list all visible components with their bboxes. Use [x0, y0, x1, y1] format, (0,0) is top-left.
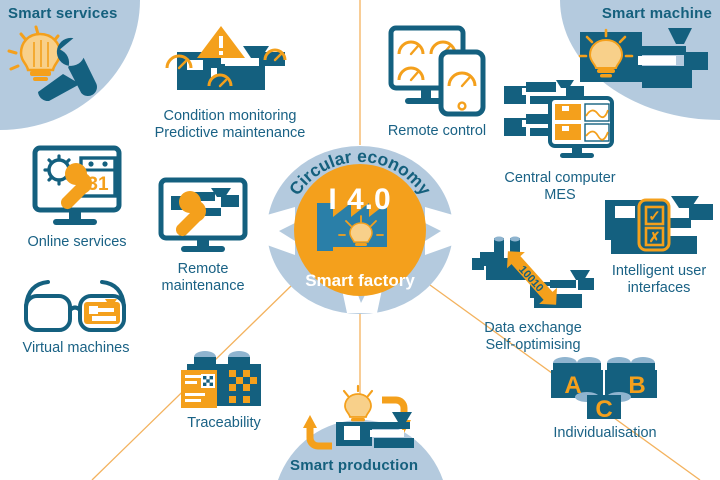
- node-label: Condition monitoring: [140, 108, 320, 125]
- node-label: Central computer: [485, 170, 635, 187]
- node-label: Individualisation: [530, 425, 680, 442]
- lego-blocks-abc-icon: A B C: [530, 355, 680, 421]
- monitor-gear-calendar-wrench-icon: 31: [12, 146, 142, 228]
- node-label: Intelligent user: [598, 263, 720, 280]
- infographic-canvas: Smart services Smart machine Smart produ…: [0, 0, 720, 480]
- node-condition-monitoring[interactable]: Condition monitoring Predictive maintena…: [140, 24, 320, 142]
- node-individualisation[interactable]: A B C Individualisation: [530, 355, 680, 442]
- node-central-computer-mes[interactable]: Central computer MES: [485, 80, 635, 204]
- node-label: Predictive maintenance: [140, 125, 320, 142]
- block-letter-b: B: [628, 372, 645, 399]
- node-label: Data exchange: [458, 320, 608, 337]
- corner-label-smart-services: Smart services: [8, 5, 118, 22]
- machine-tablet-checkbox-icon: ✓ ✗: [598, 196, 720, 258]
- cross-glyph: ✗: [649, 229, 661, 245]
- node-virtual-machines[interactable]: Virtual machines: [6, 280, 146, 357]
- node-label: Traceability: [162, 415, 286, 432]
- two-machines-dataarrow-icon: 10010: [458, 238, 608, 316]
- machines-monitor-charts-icon: [485, 80, 635, 164]
- monitor-tablet-gauges-icon: [374, 26, 500, 118]
- block-qrcode-document-icon: [162, 350, 286, 410]
- node-remote-maintenance[interactable]: Remote maintenance: [144, 178, 262, 295]
- check-glyph: ✓: [648, 208, 661, 225]
- node-data-exchange[interactable]: 10010 Data exchange Self-optimising: [458, 238, 608, 354]
- node-label: Remote control: [374, 123, 500, 140]
- node-intelligent-user-interfaces[interactable]: ✓ ✗ Intelligent user interfaces: [598, 196, 720, 297]
- center-circular-economy: Circular economy I 4.0 Smart factory: [265, 145, 455, 315]
- node-label: interfaces: [598, 280, 720, 297]
- block-letter-a: A: [564, 372, 581, 399]
- smart-services-icon: [8, 26, 118, 106]
- smart-production-icon: [296, 388, 428, 450]
- node-online-services[interactable]: 31 Online services: [12, 146, 142, 251]
- machine-gauges-warning-icon: [140, 24, 320, 102]
- glasses-machine-icon: [6, 280, 146, 336]
- node-label: Remote: [144, 261, 262, 278]
- corner-label-smart-production: Smart production: [290, 457, 418, 474]
- node-remote-control[interactable]: Remote control: [374, 26, 500, 140]
- center-title: I 4.0: [265, 183, 455, 217]
- monitor-machine-wrench-icon: [144, 178, 262, 256]
- node-label: Online services: [12, 234, 142, 251]
- node-label: Virtual machines: [6, 340, 146, 357]
- node-label: maintenance: [144, 278, 262, 295]
- node-traceability[interactable]: Traceability: [162, 350, 286, 432]
- block-letter-c: C: [595, 396, 612, 423]
- corner-label-smart-machine: Smart machine: [602, 5, 712, 22]
- node-label: Self-optimising: [458, 337, 608, 354]
- center-subtitle: Smart factory: [265, 271, 455, 291]
